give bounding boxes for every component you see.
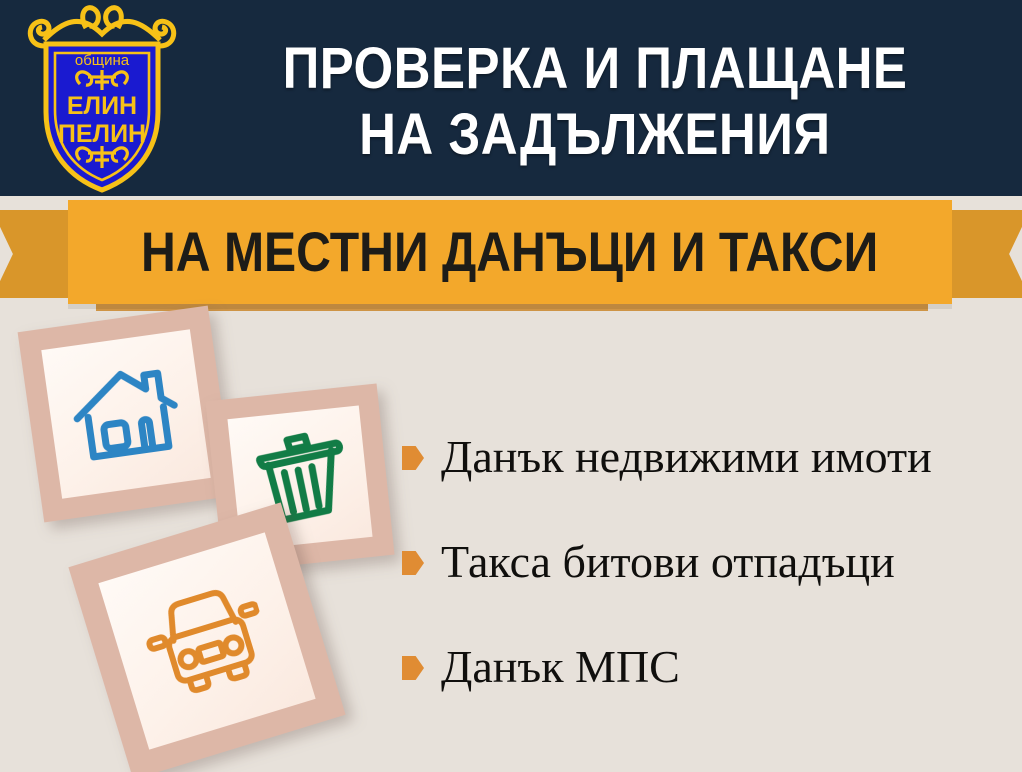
- list-item-label: Такса битови отпадъци: [441, 536, 895, 588]
- title-line-2: НА ЗАДЪЛЖЕНИЯ: [359, 102, 830, 168]
- house-icon: [65, 357, 188, 471]
- list-item[interactable]: Такса битови отпадъци: [402, 529, 1012, 595]
- list-item-label: Данък недвижими имоти: [441, 431, 932, 483]
- logo-line-2: ПЕЛИН: [58, 120, 146, 148]
- logo-line-1: ЕЛИН: [67, 92, 137, 120]
- car-front-icon: [136, 576, 278, 706]
- ribbon-shadow: [96, 302, 928, 311]
- list-item-label: Данък МПС: [441, 641, 680, 693]
- ribbon-tail-right: [840, 210, 1022, 298]
- title-line-1: ПРОВЕРКА И ПЛАЩАНЕ: [283, 36, 908, 102]
- logo-line-small: община: [75, 52, 130, 69]
- stamp-card-property: [18, 306, 235, 523]
- bullet-arrow-icon: [402, 446, 424, 470]
- ribbon-text: НА МЕСТНИ ДАНЪЦИ И ТАКСИ: [141, 224, 878, 280]
- list-item[interactable]: Данък МПС: [402, 634, 1012, 700]
- poster-title: ПРОВЕРКА И ПЛАЩАНЕ НА ЗАДЪЛЖЕНИЯ: [185, 22, 1005, 182]
- subtitle-ribbon: НА МЕСТНИ ДАНЪЦИ И ТАКСИ: [0, 196, 1022, 306]
- ribbon-banner: НА МЕСТНИ ДАНЪЦИ И ТАКСИ: [68, 200, 952, 304]
- bullet-arrow-icon: [402, 656, 424, 680]
- bullet-arrow-icon: [402, 551, 424, 575]
- tax-type-list: Данък недвижими имоти Такса битови отпад…: [402, 424, 1012, 700]
- ribbon-tail-left: [0, 210, 182, 298]
- stamp-paper: [41, 329, 210, 498]
- municipality-logo: община ЕЛИН ПЕЛИН: [22, 0, 182, 196]
- poster-canvas: община ЕЛИН ПЕЛИН: [0, 0, 1022, 772]
- list-item[interactable]: Данък недвижими имоти: [402, 424, 1012, 490]
- header-bar: община ЕЛИН ПЕЛИН: [0, 0, 1022, 196]
- coat-of-arms-icon: община ЕЛИН ПЕЛИН: [22, 0, 182, 196]
